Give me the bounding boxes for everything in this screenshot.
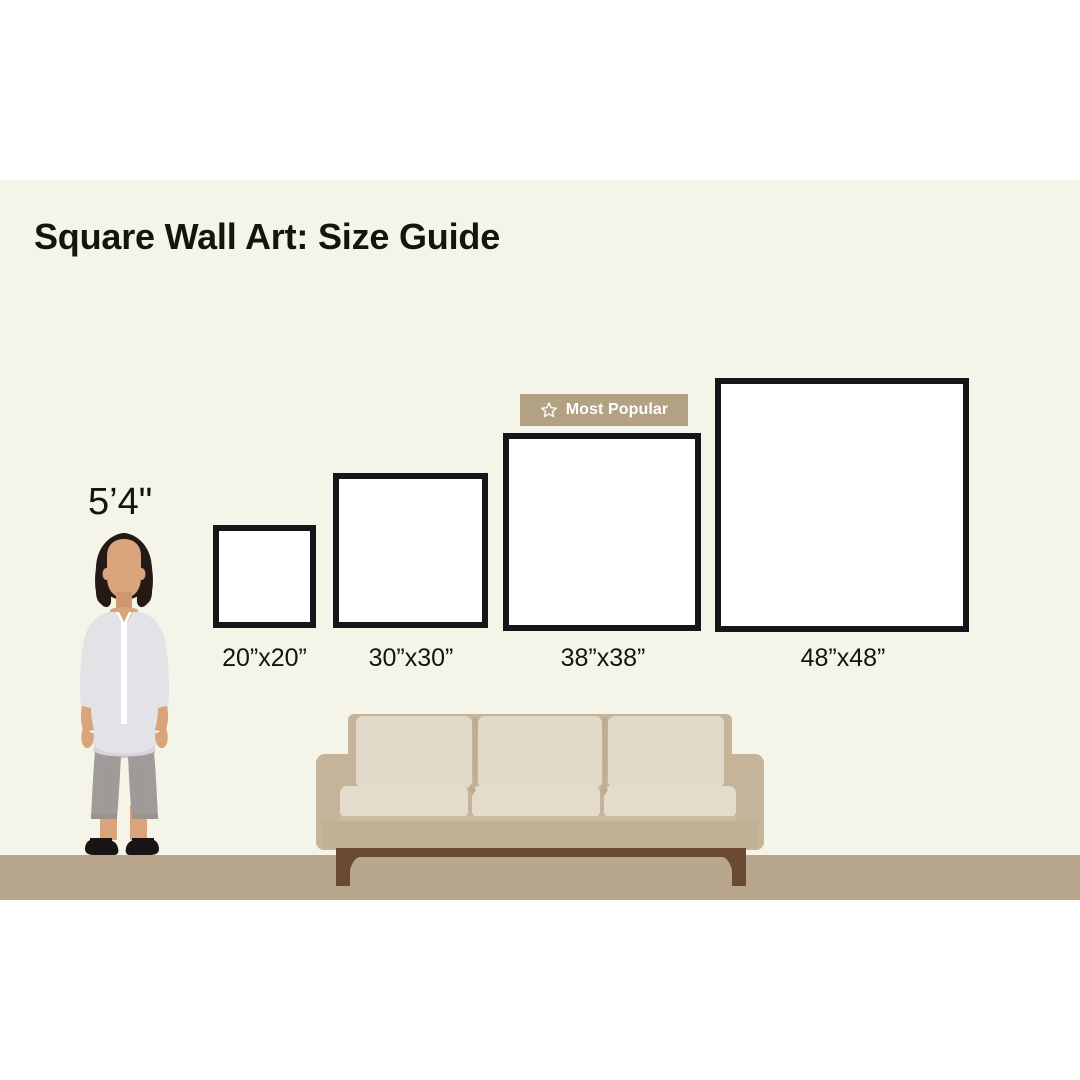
frame-label-20: 20”x20” [203, 644, 326, 673]
person-figure [60, 530, 190, 860]
sofa-figure [300, 700, 780, 890]
page-title: Square Wall Art: Size Guide [34, 216, 500, 258]
star-outline-icon [540, 401, 558, 419]
frame-20[interactable] [213, 525, 316, 628]
most-popular-badge[interactable]: Most Popular [520, 394, 688, 426]
frame-label-30: 30”x30” [348, 644, 474, 673]
frame-label-38: 38”x38” [540, 644, 666, 673]
most-popular-badge-label: Most Popular [566, 401, 669, 419]
frame-48[interactable] [715, 378, 969, 632]
frame-38[interactable] [503, 433, 701, 631]
three-seat-sofa [300, 700, 780, 890]
frame-label-48: 48”x48” [780, 644, 906, 673]
frame-30[interactable] [333, 473, 488, 628]
person-height-label: 5’4" [88, 481, 152, 524]
standing-woman-figure [60, 530, 190, 860]
size-guide-illustration: Square Wall Art: Size Guide 5’4" [0, 0, 1080, 1080]
